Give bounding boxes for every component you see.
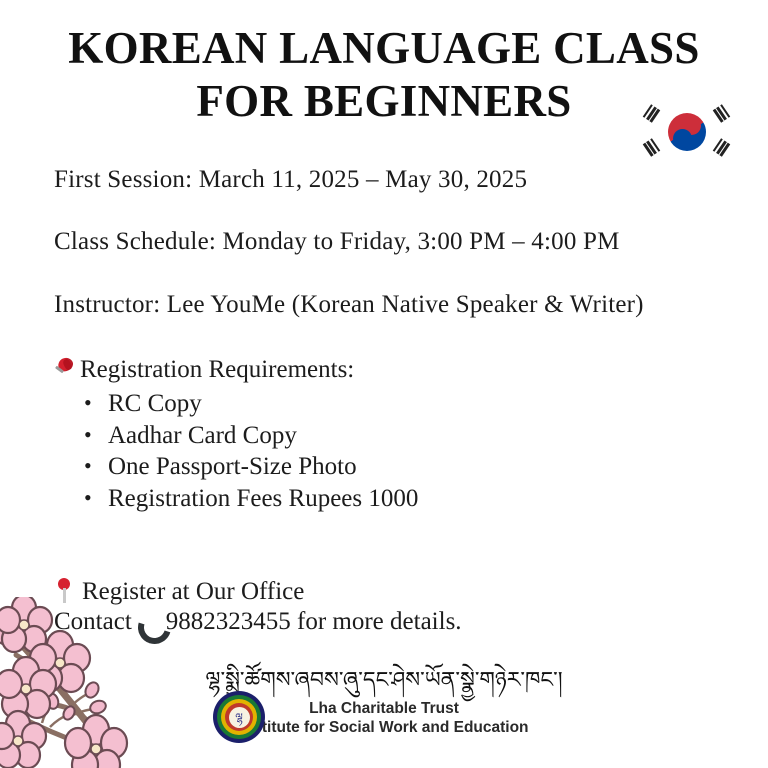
org-name: Lha Charitable Trust [0,699,768,718]
contact-phone-line: Contact9882323455 for more details. [54,608,462,636]
trigram-ri-icon [643,138,661,157]
org-subtitle: Institute for Social Work and Education [0,718,768,737]
instructor-line: Instructor: Lee YouMe (Korean Native Spe… [54,291,644,319]
trigram-gon-icon [713,138,731,157]
tibetan-org-name: ལྷ་སྨྱི་ཚོགས་ཞབས་ཞུ་དང་ཤེས་ཡོན་སྣྱེ་གཉེར… [0,666,768,696]
list-item: Registration Fees Rupees 1000 [82,483,418,515]
poster-canvas: KOREAN LANGUAGE CLASS FOR BEGINNERS Firs… [0,0,768,768]
trigram-geon-icon [643,104,661,123]
requirements-heading: Registration Requirements: [54,356,354,384]
logo-center-glyph: ལྷ [229,707,250,728]
round-pushpin-icon [56,578,72,604]
requirements-heading-label: Registration Requirements: [80,356,354,383]
footer: ལྷ་སྨྱི་ཚོགས་ཞབས་ཞུ་དང་ཤེས་ཡོན་སྣྱེ་གཉེར… [0,666,768,737]
list-item: Aadhar Card Copy [82,420,418,452]
taeguk-symbol [668,113,706,151]
list-item: One Passport-Size Photo [82,451,418,483]
register-location-label: Register at Our Office [82,578,304,605]
session-dates-line: First Session: March 11, 2025 – May 30, … [54,166,527,194]
register-location-line: Register at Our Office [56,578,304,606]
lha-trust-logo-icon: ལྷ [213,691,265,743]
class-schedule-line: Class Schedule: Monday to Friday, 3:00 P… [54,228,620,256]
requirements-list: RC Copy Aadhar Card Copy One Passport-Si… [82,388,418,514]
south-korea-flag-icon [634,96,740,167]
org-name-block: Lha Charitable Trust Institute for Socia… [0,699,768,737]
trigram-gam-icon [713,104,731,123]
contact-phone-number[interactable]: 9882323455 [166,608,291,635]
telephone-receiver-icon [136,610,162,633]
pushpin-icon [54,357,76,381]
contact-prefix-label: Contact [54,608,132,635]
list-item: RC Copy [82,388,418,420]
contact-suffix-label: for more details. [297,608,462,635]
